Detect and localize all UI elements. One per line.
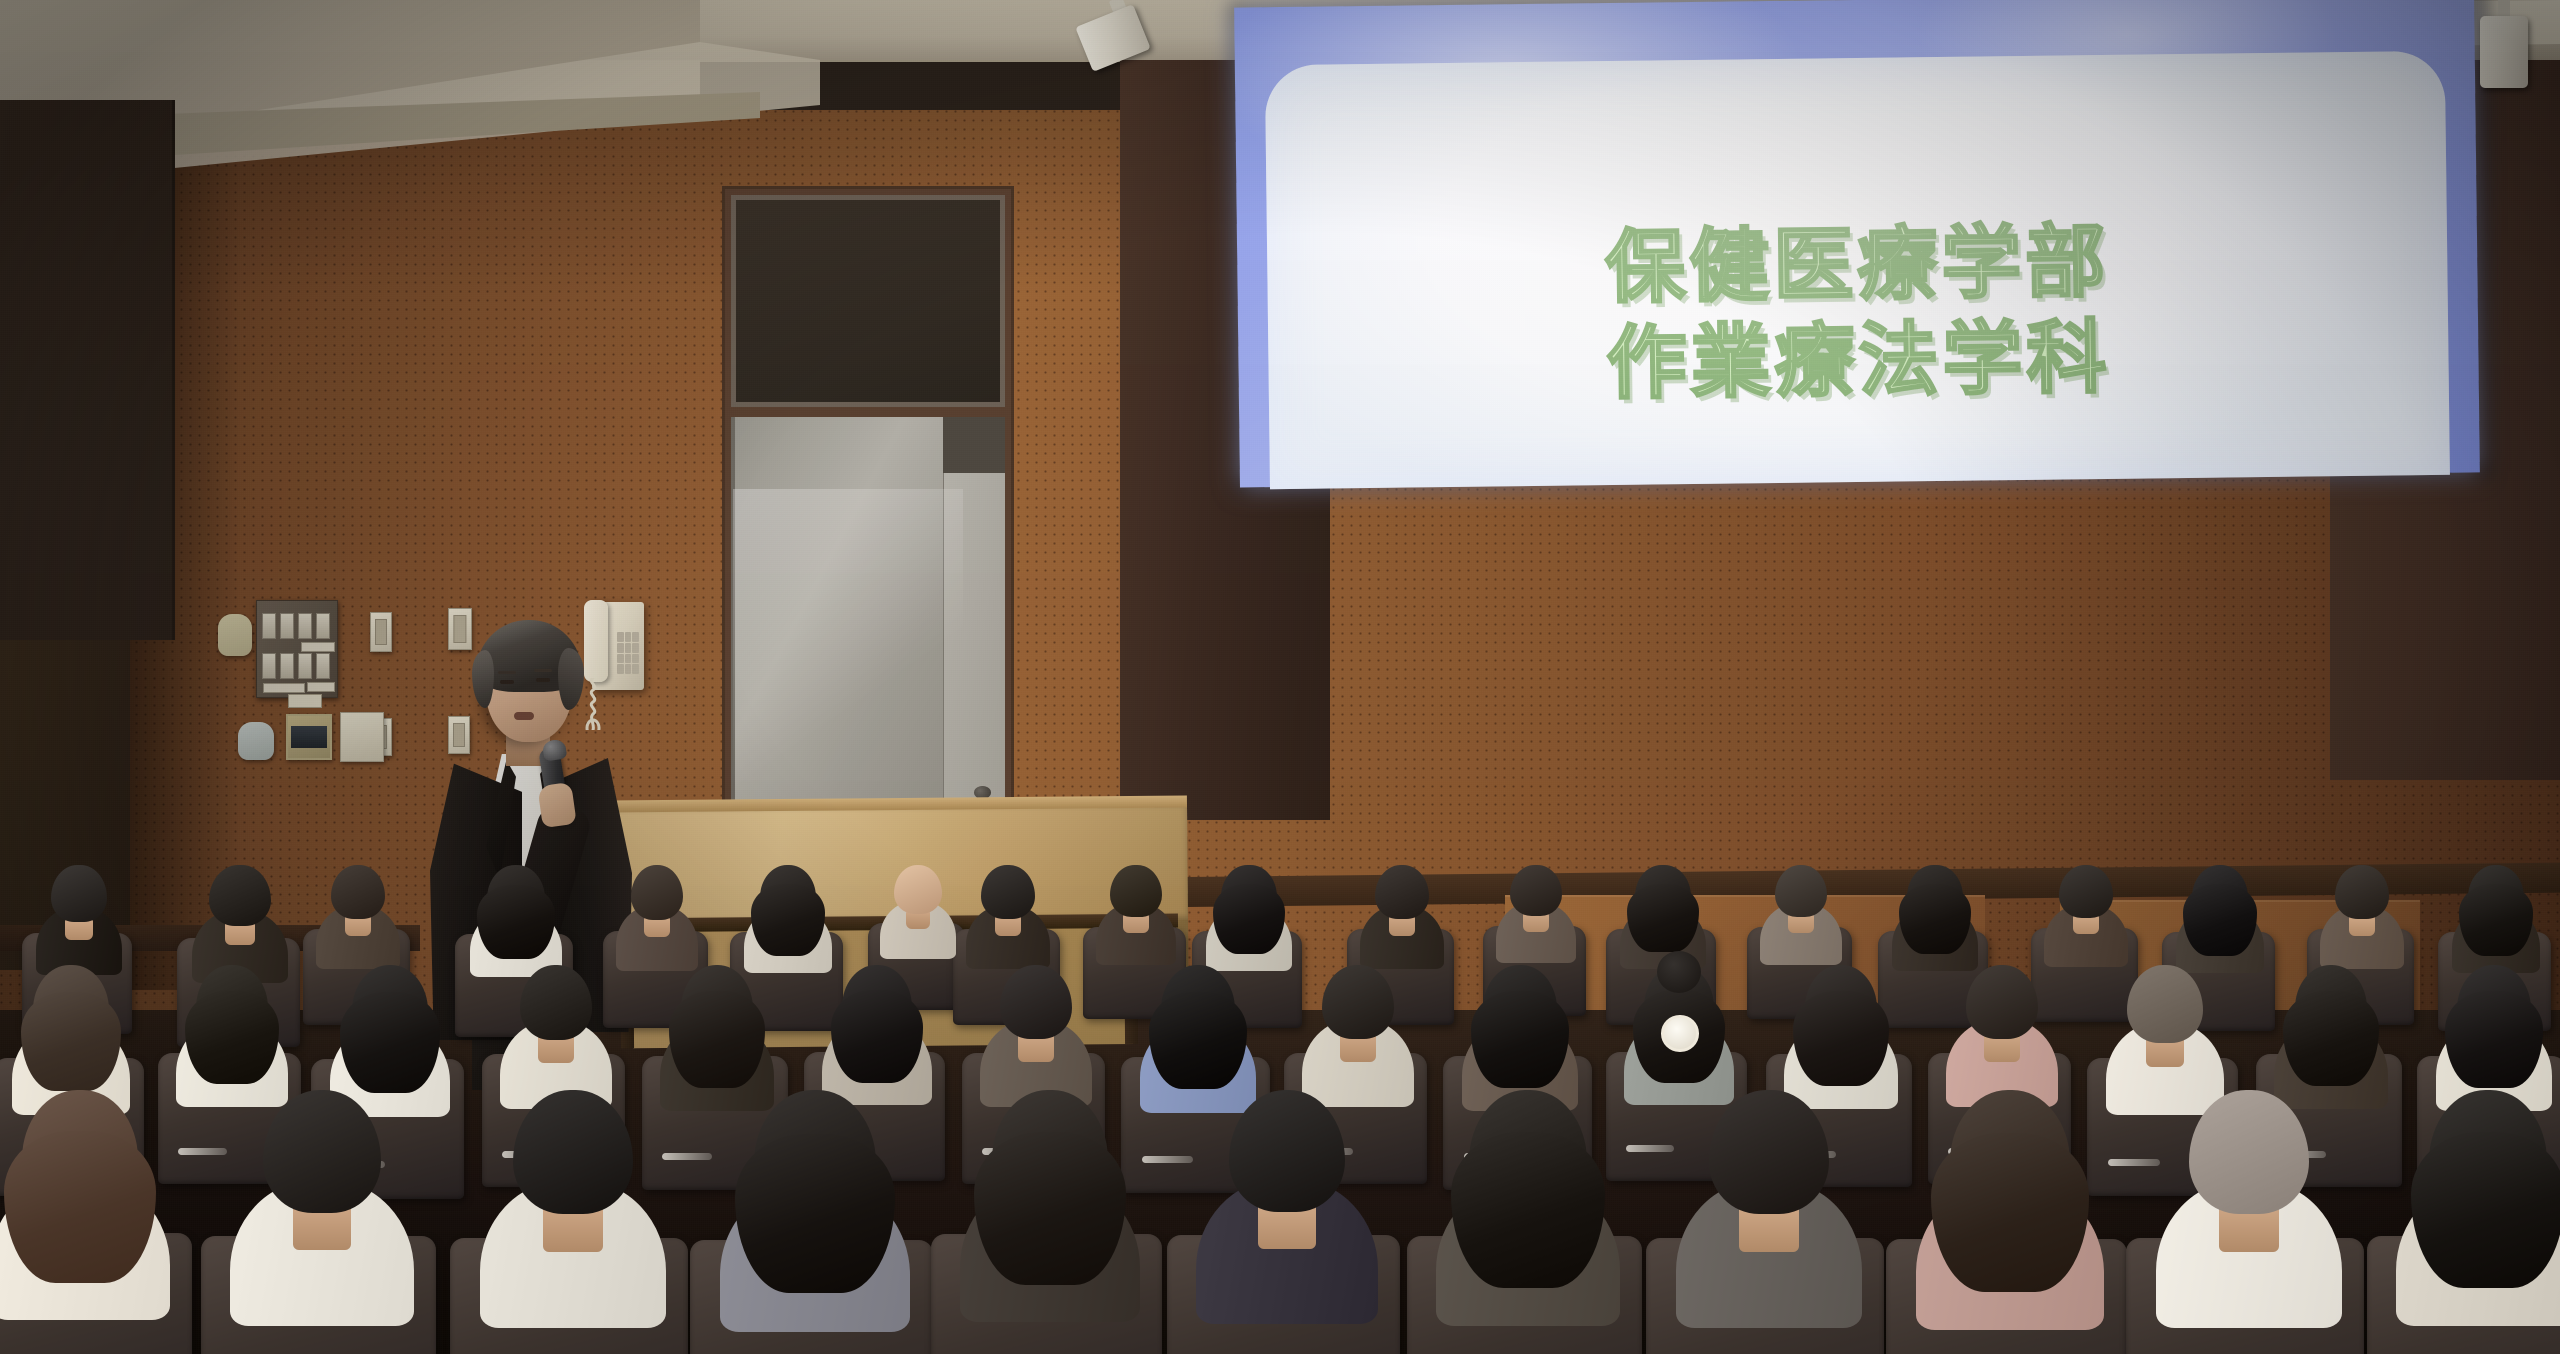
audience-member-head — [2189, 1090, 2308, 1214]
presenter-hair-left — [472, 650, 494, 708]
wall-plate-round-lower[interactable] — [238, 722, 274, 760]
audience-member-hair — [1931, 1133, 2089, 1291]
switch-lever[interactable] — [375, 619, 387, 645]
audience-member-head — [1966, 965, 2038, 1039]
wall-intercom-panel[interactable] — [286, 714, 332, 760]
audience-member-hair — [831, 990, 923, 1082]
audience-member — [470, 865, 562, 977]
audience-member — [480, 1090, 666, 1328]
audience-member-head — [1322, 965, 1394, 1039]
control-key[interactable] — [262, 653, 276, 679]
wall-control-panel[interactable] — [256, 600, 338, 698]
audience-member-head — [209, 865, 270, 926]
audience-member — [1760, 865, 1842, 965]
control-key[interactable] — [298, 613, 312, 639]
audience-member-head — [981, 865, 1035, 919]
presenter-mouth — [514, 712, 534, 720]
audience-member — [1302, 965, 1414, 1107]
audience-member-head — [2335, 865, 2389, 919]
left-wall-recess — [0, 100, 175, 640]
audience-member-head — [631, 865, 683, 920]
slide-title: 保健医療学部 作業療法学科 — [1267, 213, 2449, 414]
audience-member-hair — [1451, 1132, 1606, 1288]
audience-member-hair — [1899, 884, 1971, 954]
slide-title-line-1: 保健医療学部 — [1267, 213, 2448, 318]
audience-member — [2396, 1090, 2560, 1326]
door-stile — [943, 417, 1005, 823]
audience-member-hair — [4, 1131, 155, 1283]
audience-member-hair — [1213, 884, 1285, 954]
control-key[interactable] — [298, 653, 312, 679]
audience-member-hair — [669, 991, 765, 1087]
audience-member — [36, 865, 122, 975]
presenter-eye-right — [536, 678, 550, 682]
audience-member — [1784, 965, 1898, 1109]
audience-member — [1892, 865, 1978, 971]
audience-member-hair — [2183, 884, 2257, 955]
wall-plate-blank[interactable] — [340, 712, 384, 762]
control-key[interactable] — [316, 653, 330, 679]
audience-member-hair — [185, 991, 279, 1085]
audience-member-hair — [974, 1132, 1125, 1285]
control-row-bottom[interactable] — [262, 653, 330, 679]
audience-member-head — [1709, 1090, 1828, 1214]
audience-member-hair — [1471, 991, 1568, 1087]
control-key[interactable] — [316, 613, 330, 639]
audience-member-head — [520, 965, 592, 1040]
audience-member — [1620, 865, 1706, 969]
audience-member-hair — [477, 885, 554, 959]
audience-member — [1196, 1090, 1378, 1324]
audience-member-hair — [340, 992, 441, 1092]
audience-member — [1496, 865, 1576, 963]
audience-member-head — [2127, 965, 2203, 1043]
door-transom-window — [731, 195, 1005, 407]
audience-member-head — [1229, 1090, 1345, 1212]
audience-member — [1676, 1090, 1862, 1328]
audience-member-hair — [751, 884, 825, 955]
audience-member-head — [1375, 865, 1429, 919]
audience-member — [1946, 965, 2058, 1107]
audience-member-head — [51, 865, 106, 922]
audience-member — [1916, 1090, 2104, 1330]
control-key[interactable] — [280, 613, 294, 639]
audience-member — [2044, 865, 2128, 967]
projection-screen: 保健医療学部 作業療法学科 — [1234, 0, 2480, 488]
audience-member — [744, 865, 832, 973]
audience-member — [720, 1090, 910, 1332]
presenter-brow-left — [498, 671, 516, 674]
light-switch-1[interactable] — [370, 612, 392, 652]
audience-member-head — [1510, 865, 1561, 916]
audience-member-head — [331, 865, 385, 919]
audience-member-head — [1775, 865, 1827, 917]
ceiling-speaker-right-icon — [2480, 16, 2528, 88]
entry-door[interactable] — [722, 186, 1014, 830]
audience-member-hair — [2411, 1132, 2560, 1288]
audience-member — [2156, 1090, 2342, 1328]
audience-member — [316, 865, 400, 969]
audience-member-hair — [1627, 884, 1699, 953]
presenter-hair-right — [558, 648, 584, 710]
audience-member-hair — [2283, 991, 2379, 1086]
audience-member-head — [894, 865, 943, 914]
control-label-strip — [307, 682, 335, 692]
audience-member-head — [1000, 965, 1072, 1039]
slide-inner-panel: 保健医療学部 作業療法学科 — [1265, 51, 2450, 489]
audience-member — [880, 865, 956, 959]
audience-member — [500, 965, 612, 1109]
hair-scrunchie — [1661, 1015, 1698, 1051]
audience-member — [1096, 865, 1176, 965]
audience-member-head — [513, 1090, 632, 1214]
audience-member — [980, 965, 1092, 1107]
audience-member — [0, 1090, 170, 1320]
audience-member — [2452, 865, 2540, 973]
audience-member — [2274, 965, 2388, 1109]
control-key[interactable] — [280, 653, 294, 679]
audience-member-hair — [2445, 991, 2542, 1087]
audience-member-hair-bun — [1657, 951, 1701, 993]
lecture-hall-photo: 保健医療学部 作業療法学科 — [0, 0, 2560, 1354]
audience-member-hair — [735, 1134, 895, 1294]
audience-member-head — [263, 1090, 381, 1213]
control-key[interactable] — [262, 613, 276, 639]
audience-member — [1436, 1090, 1620, 1326]
audience-member-hair — [2459, 884, 2533, 955]
presenter-brow-right — [534, 669, 552, 672]
audience-member — [1206, 865, 1292, 971]
control-row-top[interactable] — [262, 613, 330, 639]
audience-member-hair — [1793, 991, 1889, 1086]
audience-member — [616, 865, 698, 971]
slide-border-gradient: 保健医療学部 作業療法学科 — [1234, 0, 2480, 488]
slide-title-line-2: 作業療法学科 — [1268, 309, 2449, 414]
audience-member — [230, 1090, 414, 1326]
wall-plate-round[interactable] — [218, 614, 252, 656]
audience-member-hair — [21, 992, 120, 1091]
control-label-strip — [263, 683, 305, 693]
presenter-eye-left — [500, 680, 514, 684]
audience-member-head — [1110, 865, 1161, 917]
intercom-screen — [291, 726, 327, 748]
audience-member — [822, 965, 932, 1105]
audience-member — [1624, 965, 1734, 1105]
audience-member — [1360, 865, 1444, 969]
control-label-strip — [301, 642, 335, 652]
audience-member — [2320, 865, 2404, 969]
audience-member — [176, 965, 288, 1107]
wall-label-tag — [288, 694, 322, 708]
audience-member — [966, 865, 1050, 969]
door-stile-top — [943, 417, 1005, 473]
audience-member — [2176, 865, 2264, 973]
audience-member-hair — [1149, 992, 1246, 1090]
audience-member-head — [2059, 865, 2113, 918]
presenter-hand — [537, 782, 577, 828]
audience-member — [960, 1090, 1140, 1322]
